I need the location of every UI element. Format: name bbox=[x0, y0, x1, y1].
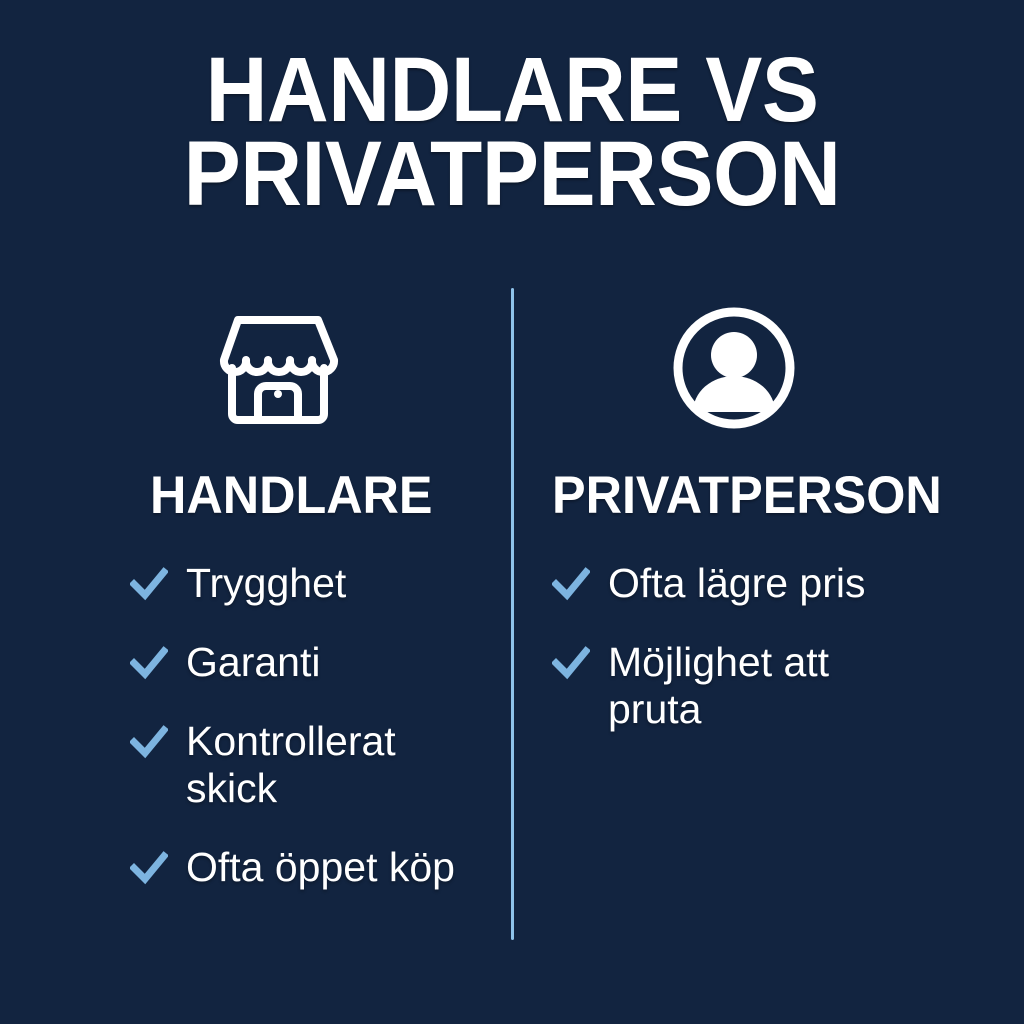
list-item: Ofta öppet köp bbox=[130, 844, 490, 891]
check-icon bbox=[130, 844, 168, 890]
feature-list-handlare: Trygghet Garanti Kontrollerat skick Ofta… bbox=[130, 560, 490, 891]
check-icon bbox=[130, 639, 168, 685]
page-title: HANDLARE VS PRIVATPERSON bbox=[0, 48, 1024, 216]
feature-label: Möjlighet att pruta bbox=[608, 639, 922, 733]
check-icon bbox=[130, 718, 168, 764]
check-icon bbox=[130, 560, 168, 606]
storefront-icon bbox=[212, 302, 344, 434]
column-heading-handlare: HANDLARE bbox=[150, 468, 479, 524]
feature-label: Kontrollerat skick bbox=[186, 718, 490, 812]
list-item: Möjlighet att pruta bbox=[552, 639, 922, 733]
title-line-2: PRIVATPERSON bbox=[36, 132, 988, 216]
list-item: Trygghet bbox=[130, 560, 490, 607]
list-item: Garanti bbox=[130, 639, 490, 686]
list-item: Ofta lägre pris bbox=[552, 560, 922, 607]
person-avatar-icon bbox=[671, 305, 797, 431]
column-divider bbox=[511, 288, 514, 940]
feature-label: Trygghet bbox=[186, 560, 346, 607]
check-icon bbox=[552, 560, 590, 606]
column-handlare: HANDLARE Trygghet Garanti Kontrollerat s… bbox=[96, 288, 496, 923]
feature-list-privatperson: Ofta lägre pris Möjlighet att pruta bbox=[552, 560, 922, 733]
column-heading-privatperson: PRIVATPERSON bbox=[552, 468, 917, 524]
feature-label: Garanti bbox=[186, 639, 320, 686]
feature-label: Ofta öppet köp bbox=[186, 844, 455, 891]
person-avatar-icon-wrap bbox=[528, 288, 936, 448]
check-icon bbox=[552, 639, 590, 685]
list-item: Kontrollerat skick bbox=[130, 718, 490, 812]
title-line-1: HANDLARE VS bbox=[36, 48, 988, 132]
column-privatperson: PRIVATPERSON Ofta lägre pris Möjlighet a… bbox=[528, 288, 936, 765]
storefront-icon-wrap bbox=[96, 288, 496, 448]
comparison-infographic: HANDLARE VS PRIVATPERSON HANDLARE bbox=[0, 0, 1024, 1024]
feature-label: Ofta lägre pris bbox=[608, 560, 866, 607]
